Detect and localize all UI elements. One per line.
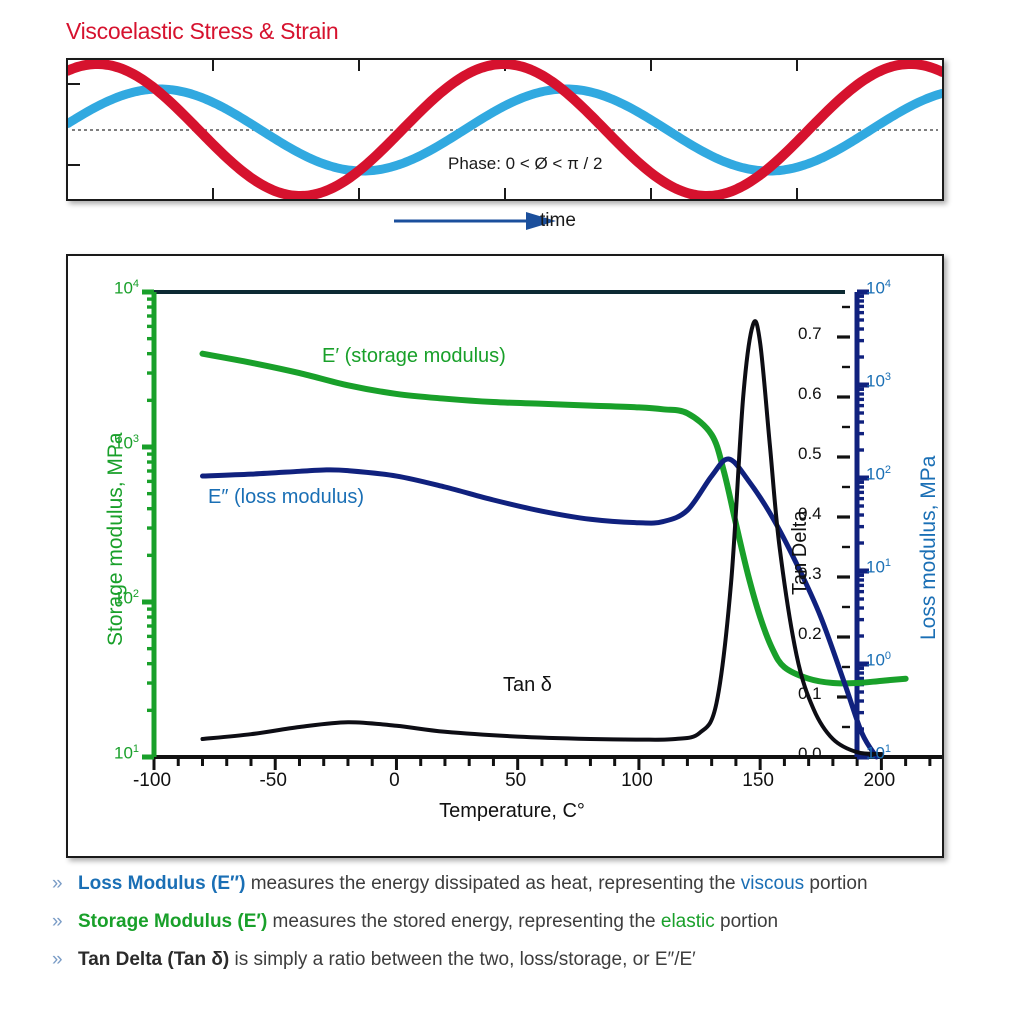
x-tick-1: -50 <box>249 770 297 792</box>
x-tick-5: 150 <box>734 770 782 792</box>
bullet-highlight: viscous <box>741 873 804 894</box>
bullet-tail: portion <box>715 911 778 932</box>
bullet-item-2: »Tan Delta (Tan δ) is simply a ratio bet… <box>52 949 1024 971</box>
bullet-text: Tan Delta (Tan δ) is simply a ratio betw… <box>78 949 696 971</box>
tan-delta-tick-7: 0.0 <box>798 744 822 764</box>
bullet-lead: Loss Modulus (E″) <box>78 873 245 894</box>
storage-tick-1: 103 <box>114 433 139 454</box>
storage-curve-label: E′ (storage modulus) <box>322 345 506 368</box>
bullet-text: Loss Modulus (E″) measures the energy di… <box>78 873 868 895</box>
loss-tick-3: 101 <box>866 557 891 578</box>
tan-delta-curve-label: Tan δ <box>503 674 552 697</box>
x-tick-4: 100 <box>613 770 661 792</box>
x-tick-0: -100 <box>128 770 176 792</box>
bullet-marker-icon: » <box>52 949 78 971</box>
storage-tick-3: 101 <box>114 743 139 764</box>
tan-delta-tick-1: 0.6 <box>798 384 822 404</box>
loss-tick-1: 103 <box>866 371 891 392</box>
bullet-highlight: elastic <box>661 911 715 932</box>
storage-tick-2: 102 <box>114 588 139 609</box>
loss-tick-5: 101 <box>866 743 891 764</box>
x-tick-6: 200 <box>855 770 903 792</box>
tan-delta-tick-5: 0.2 <box>798 624 822 644</box>
storage-axis-title: Storage modulus, MPa <box>104 432 128 646</box>
bullet-lead: Tan Delta (Tan δ) <box>78 949 229 970</box>
loss-tick-4: 100 <box>866 650 891 671</box>
tan-delta-tick-4: 0.3 <box>798 564 822 584</box>
loss-curve-label: E″ (loss modulus) <box>208 486 364 509</box>
loss-tick-2: 102 <box>866 464 891 485</box>
bullet-text: Storage Modulus (E′) measures the stored… <box>78 911 778 933</box>
waveform-plot <box>68 60 942 199</box>
bullet-marker-icon: » <box>52 911 78 933</box>
figure-root: Viscoelastic Stress & Strain <box>0 0 1024 1024</box>
bullet-highlight: E″/E′ <box>655 949 696 970</box>
storage-tick-0: 104 <box>114 278 139 299</box>
loss-tick-0: 104 <box>866 278 891 299</box>
tan-delta-tick-3: 0.4 <box>798 504 822 524</box>
bullet-body: is simply a ratio between the two, loss/… <box>229 949 655 970</box>
bullet-marker-icon: » <box>52 873 78 895</box>
time-arrow-icon <box>390 206 630 236</box>
bullet-list: »Loss Modulus (E″) measures the energy d… <box>52 873 1024 987</box>
bullet-body: measures the energy dissipated as heat, … <box>245 873 740 894</box>
bullet-lead: Storage Modulus (E′) <box>78 911 267 932</box>
x-axis-title: Temperature, C° <box>0 800 1024 823</box>
bullet-tail: portion <box>804 873 867 894</box>
bullet-item-0: »Loss Modulus (E″) measures the energy d… <box>52 873 1024 895</box>
waveform-panel <box>66 58 944 201</box>
bullet-body: measures the stored energy, representing… <box>267 911 661 932</box>
figure-title: Viscoelastic Stress & Strain <box>66 18 338 45</box>
phase-annotation: Phase: 0 < Ø < π / 2 <box>448 154 602 174</box>
x-tick-2: 0 <box>370 770 418 792</box>
tan-delta-tick-2: 0.5 <box>798 444 822 464</box>
tan-delta-tick-6: 0.1 <box>798 684 822 704</box>
x-tick-3: 50 <box>492 770 540 792</box>
tan-delta-tick-0: 0.7 <box>798 324 822 344</box>
loss-axis-title: Loss modulus, MPa <box>917 456 941 640</box>
time-axis-label: time <box>540 210 576 232</box>
bullet-item-1: »Storage Modulus (E′) measures the store… <box>52 911 1024 933</box>
